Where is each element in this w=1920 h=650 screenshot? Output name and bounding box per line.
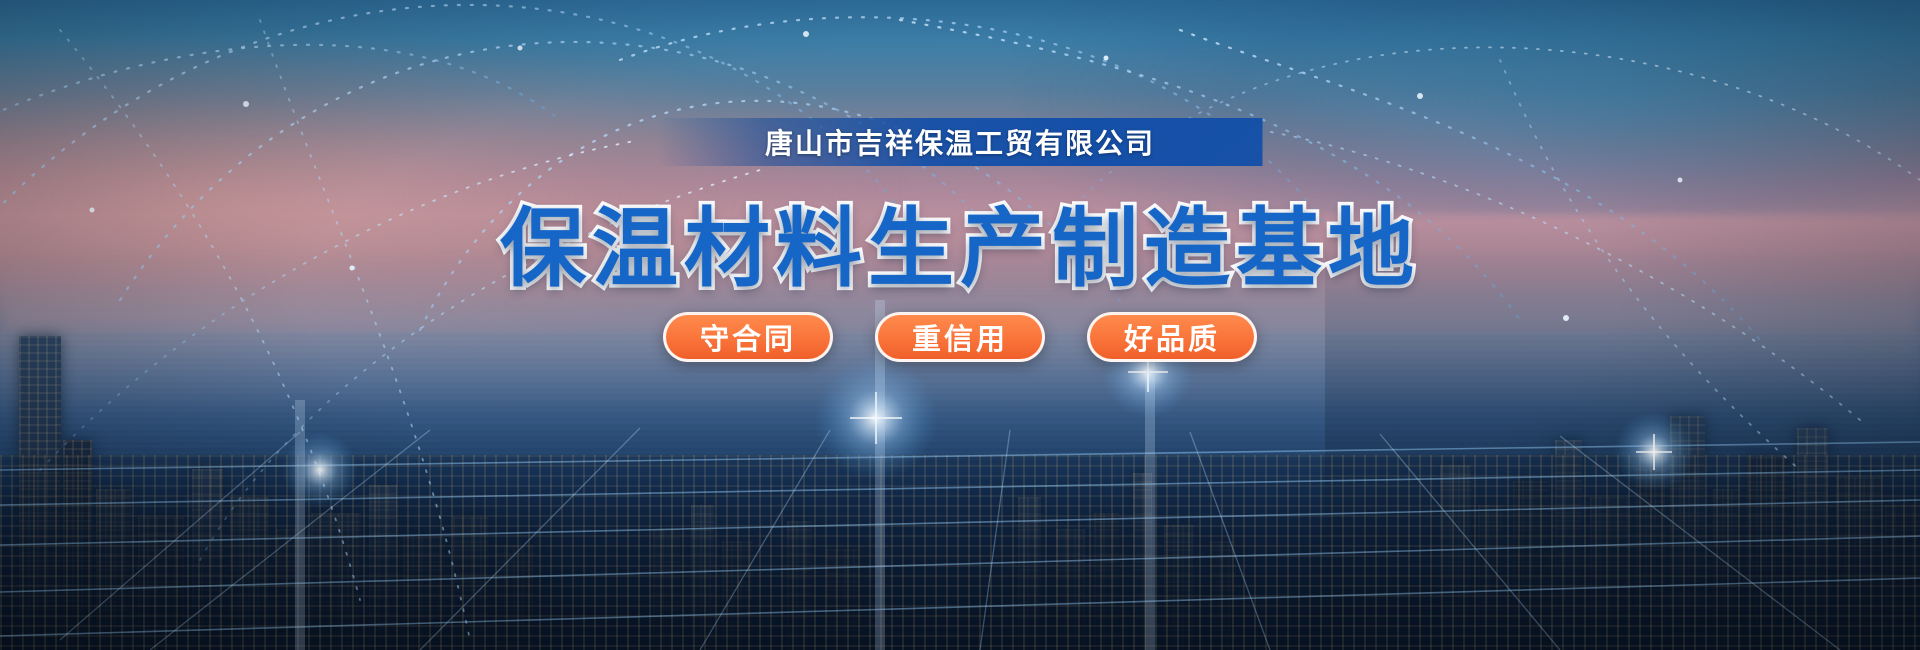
badge-hao-pin-zhi[interactable]: 好品质 xyxy=(1087,312,1257,362)
hero-banner: 唐山市吉祥保温工贸有限公司 保温材料生产制造基地 守合同 重信用 好品质 xyxy=(0,0,1920,650)
company-name-text: 唐山市吉祥保温工贸有限公司 xyxy=(765,122,1155,162)
hero-headline: 保温材料生产制造基地 xyxy=(500,178,1420,303)
badge-group: 守合同 重信用 好品质 xyxy=(663,312,1257,362)
company-name-bar: 唐山市吉祥保温工贸有限公司 xyxy=(658,118,1263,166)
badge-zhong-xin-yong[interactable]: 重信用 xyxy=(875,312,1045,362)
badge-shou-he-tong[interactable]: 守合同 xyxy=(663,312,833,362)
banner-content: 唐山市吉祥保温工贸有限公司 保温材料生产制造基地 守合同 重信用 好品质 xyxy=(0,0,1920,650)
